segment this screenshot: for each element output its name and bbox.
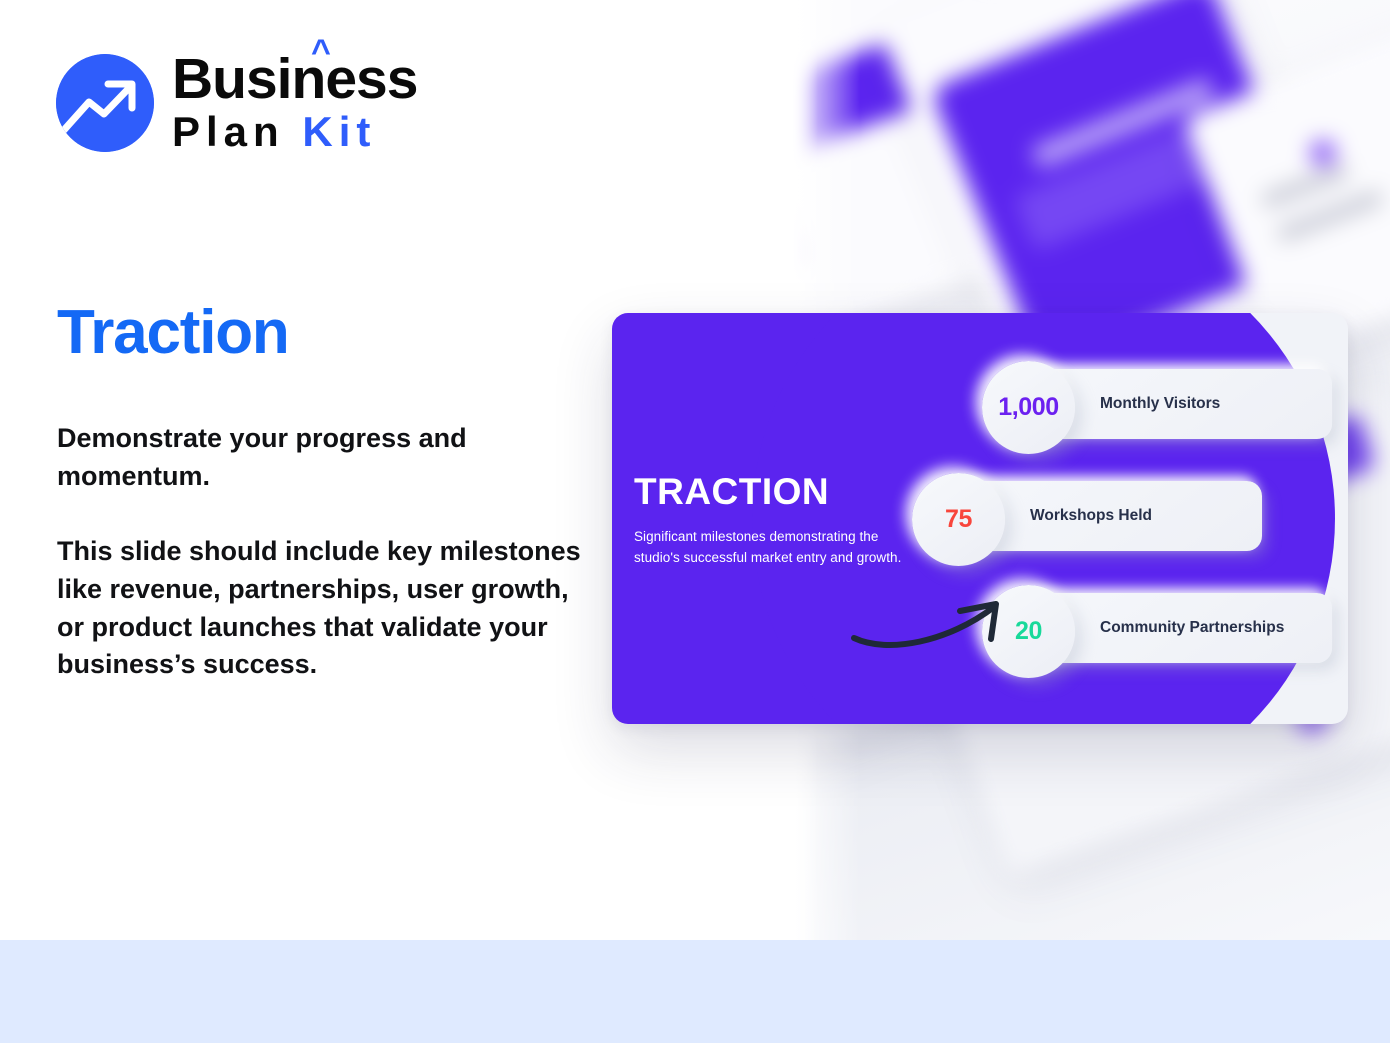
- brand-name-kit: Kit: [302, 108, 376, 155]
- metric-pill: Community Partnerships: [1030, 593, 1332, 663]
- lead-paragraph: Demonstrate your progress and momentum.: [57, 420, 577, 496]
- metric-item[interactable]: Workshops Held 75: [912, 473, 1332, 559]
- traction-slide-card[interactable]: TRACTION Significant milestones demonstr…: [612, 313, 1348, 724]
- metric-pill: Monthly Visitors: [1030, 369, 1332, 439]
- metric-label: Community Partnerships: [1100, 618, 1284, 638]
- metric-label: Workshops Held: [1030, 506, 1152, 526]
- brand-name-plan: Plan: [172, 108, 285, 155]
- brand-name-business: Business: [172, 47, 417, 111]
- curved-up-right-arrow-icon: [848, 594, 1013, 659]
- body-paragraph: This slide should include key milestones…: [57, 533, 587, 684]
- brand-name-line1: Business ^: [172, 52, 417, 108]
- bg-dot: [1310, 140, 1336, 166]
- slide-title: TRACTION: [634, 473, 904, 510]
- slide-subtitle: Significant milestones demonstrating the…: [634, 527, 904, 569]
- metric-item[interactable]: Monthly Visitors 1,000: [982, 361, 1332, 447]
- slide-preview-page: Business ^ Plan Kit Traction Demonstrate…: [0, 0, 1390, 1043]
- metric-value: 75: [945, 505, 972, 534]
- brand-logo[interactable]: Business ^ Plan Kit: [56, 52, 417, 154]
- brand-wordmark: Business ^ Plan Kit: [172, 52, 417, 154]
- metric-item[interactable]: Community Partnerships 20: [982, 585, 1332, 671]
- metric-value: 20: [1015, 617, 1042, 646]
- metrics-list: Monthly Visitors 1,000 Workshops Held 75…: [982, 361, 1332, 671]
- brand-hat-accent-icon: ^: [311, 35, 330, 69]
- metric-pill: Workshops Held: [960, 481, 1262, 551]
- slide-copy-block: TRACTION Significant milestones demonstr…: [634, 473, 904, 569]
- metric-label: Monthly Visitors: [1100, 394, 1220, 414]
- trend-arrow-circle-icon: [56, 54, 154, 152]
- bottom-color-band: [0, 940, 1390, 1043]
- page-title: Traction: [57, 297, 289, 368]
- metric-value-circle: 75: [912, 473, 1005, 566]
- metric-value-circle: 1,000: [982, 361, 1075, 454]
- brand-name-line2: Plan Kit: [172, 110, 417, 154]
- metric-value: 1,000: [998, 393, 1059, 422]
